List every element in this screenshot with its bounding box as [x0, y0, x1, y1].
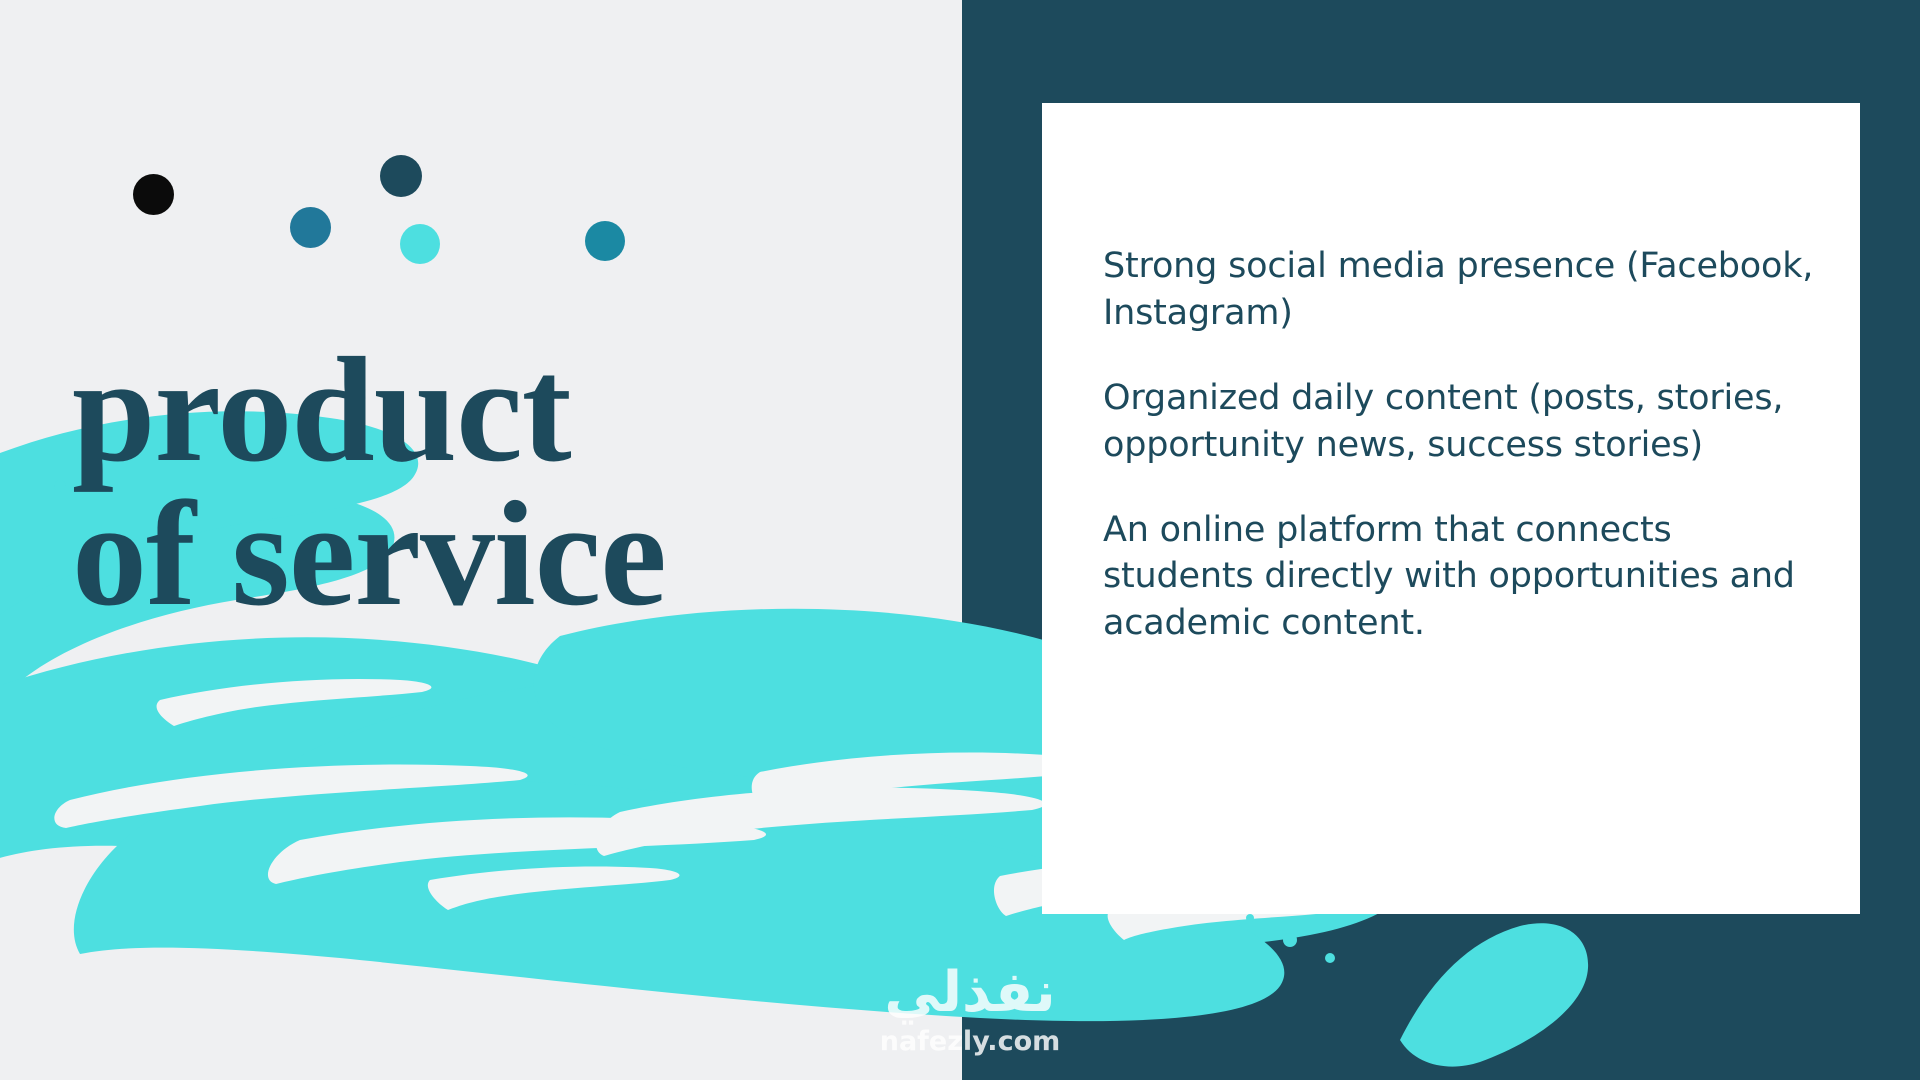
page-title: product of service — [72, 338, 942, 626]
slide-canvas: product of service Strong social media p… — [0, 0, 1920, 1080]
headline-line-1: product — [72, 338, 942, 482]
decorative-dot-dark-teal — [380, 155, 422, 197]
body-copy: Strong social media presence (Facebook, … — [1103, 243, 1818, 647]
decorative-dot-teal — [585, 221, 625, 261]
decorative-dot-mid-teal — [290, 207, 331, 248]
decorative-dot-black — [133, 174, 174, 215]
headline-line-2: of service — [72, 482, 942, 626]
body-paragraph-3: An online platform that connects student… — [1103, 507, 1818, 648]
body-paragraph-2: Organized daily content (posts, stories,… — [1103, 375, 1818, 469]
body-paragraph-1: Strong social media presence (Facebook, … — [1103, 243, 1818, 337]
decorative-dot-cyan — [400, 224, 440, 264]
